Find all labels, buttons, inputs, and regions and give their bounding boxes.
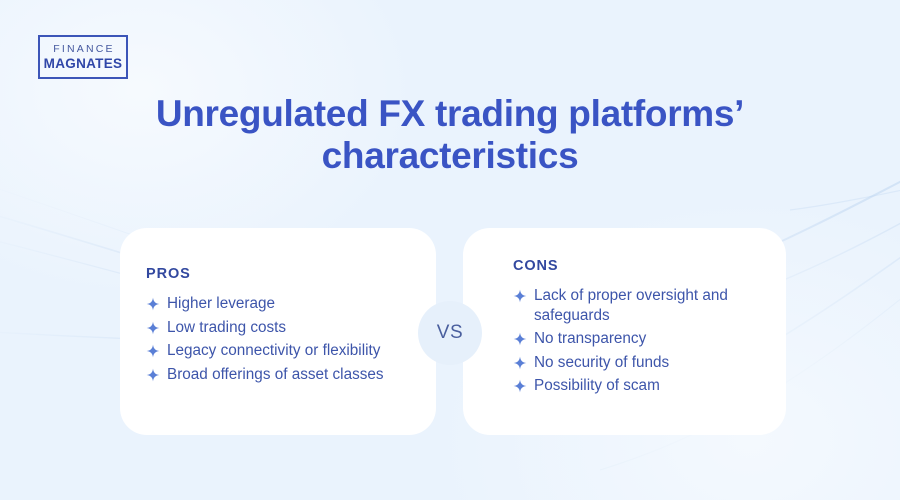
list-item-label: Broad offerings of asset classes	[167, 365, 384, 385]
sparkle-icon	[146, 368, 160, 382]
page-title-line-2: characteristics	[0, 135, 900, 177]
vs-label: VS	[437, 322, 464, 344]
list-item-label: Legacy connectivity or flexibility	[167, 341, 384, 361]
sparkle-icon	[513, 356, 527, 370]
pros-card: PROS Higher leverage	[120, 228, 436, 435]
pros-heading: PROS	[146, 266, 384, 282]
pros-card-content: PROS Higher leverage	[120, 228, 384, 388]
sparkle-icon	[513, 289, 527, 303]
list-item: Legacy connectivity or flexibility	[146, 341, 384, 361]
list-item: No security of funds	[513, 353, 786, 373]
list-item-label: Low trading costs	[167, 318, 384, 338]
list-item: Possibility of scam	[513, 376, 786, 396]
pros-list: Higher leverage Low trading costs	[146, 294, 384, 384]
list-item: Higher leverage	[146, 294, 384, 314]
list-item: No transparency	[513, 329, 786, 349]
sparkle-icon	[513, 379, 527, 393]
page-title: Unregulated FX trading platforms’ charac…	[0, 93, 900, 177]
infographic-canvas: FINANCE MAGNATES Unregulated FX trading …	[0, 0, 900, 500]
vs-circle-badge: VS	[418, 301, 482, 365]
logo-line-finance: FINANCE	[51, 43, 115, 55]
sparkle-icon	[146, 297, 160, 311]
list-item: Broad offerings of asset classes	[146, 365, 384, 385]
list-item: Low trading costs	[146, 318, 384, 338]
list-item-label: Higher leverage	[167, 294, 384, 314]
cons-list: Lack of proper oversight and safeguards …	[513, 286, 786, 396]
cons-heading: CONS	[513, 258, 786, 274]
cons-card: CONS Lack of proper oversight and safegu…	[463, 228, 786, 435]
cons-card-content: CONS Lack of proper oversight and safegu…	[463, 228, 786, 400]
sparkle-icon	[146, 321, 160, 335]
sparkle-icon	[146, 344, 160, 358]
list-item-label: No transparency	[534, 329, 786, 349]
list-item: Lack of proper oversight and safeguards	[513, 286, 786, 325]
sparkle-icon	[513, 332, 527, 346]
finance-magnates-logo[interactable]: FINANCE MAGNATES	[38, 35, 128, 79]
logo-line-magnates: MAGNATES	[44, 56, 123, 72]
page-title-line-1: Unregulated FX trading platforms’	[0, 93, 900, 135]
list-item-label: Lack of proper oversight and safeguards	[534, 286, 786, 325]
list-item-label: Possibility of scam	[534, 376, 786, 396]
list-item-label: No security of funds	[534, 353, 786, 373]
